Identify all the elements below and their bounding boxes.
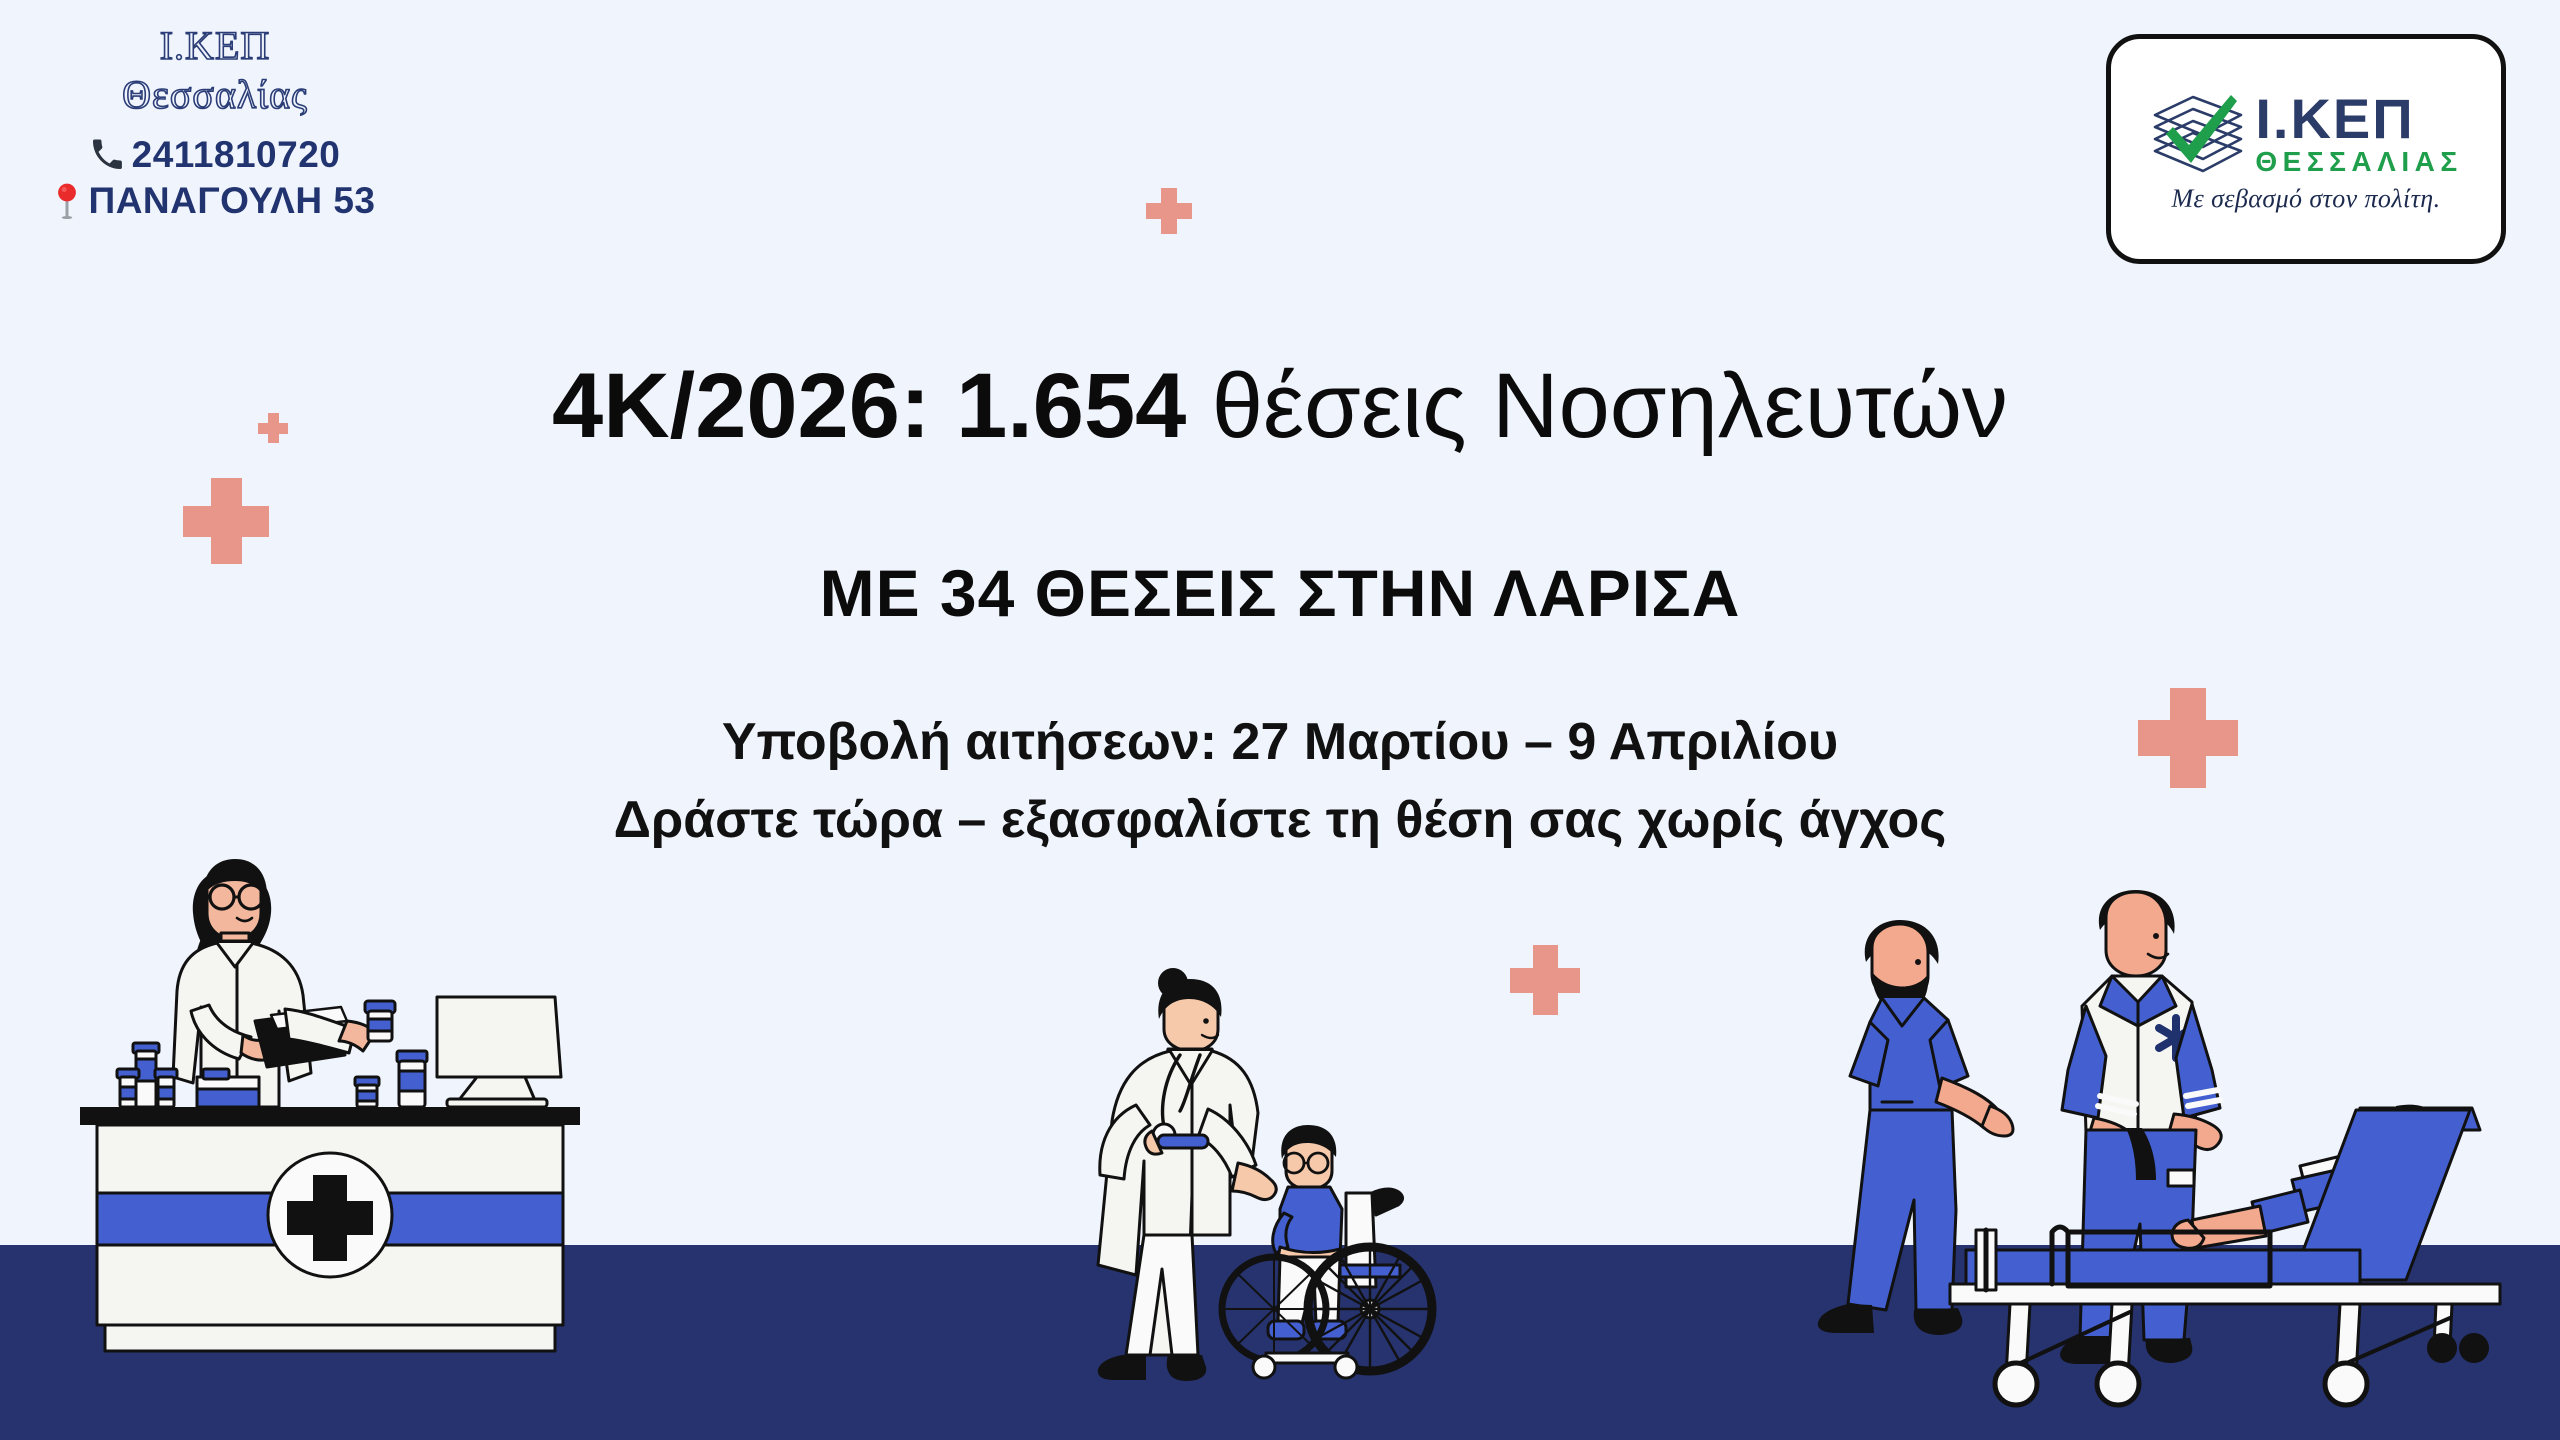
ikep-logo[interactable]: Ι.ΚΕΠ ΘΕΣΣΑΛΙΑΣ Με σεβασμό στον πολίτη.: [2106, 34, 2506, 264]
phone-number: 2411810720: [132, 134, 341, 176]
address-text: ΠΑΝΑΓΟΥΛΗ 53: [88, 180, 375, 222]
address-row[interactable]: ΠΑΝΑΓΟΥΛΗ 53: [0, 180, 430, 222]
cross-left-large: [183, 478, 269, 564]
headline-bold: 4Κ/2026: 1.654: [552, 355, 1186, 457]
org-name-line1: Ι.ΚΕΠ: [0, 22, 430, 71]
logo-name: Ι.ΚΕΠ: [2255, 92, 2414, 145]
logo-wordmark: Ι.ΚΕΠ ΘΕΣΣΑΛΙΑΣ: [2255, 92, 2462, 178]
phone-row[interactable]: 2411810720: [0, 134, 430, 176]
org-name-line2: Θεσσαλίας: [0, 71, 430, 120]
logo-top-row: Ι.ΚΕΠ ΘΕΣΣΑΛΙΑΣ: [2149, 89, 2462, 181]
check-on-documents-icon: [2149, 89, 2249, 181]
doctor-and-child-in-wheelchair-scene: [1040, 935, 1460, 1415]
page-title: 4Κ/2026: 1.654 θέσεις Νοσηλευτών: [0, 358, 2560, 455]
cross-mid-bottom: [1510, 945, 1580, 1015]
paramedics-with-stretcher-scene: [1800, 880, 2540, 1410]
contact-block: Ι.ΚΕΠ Θεσσαλίας 2411810720 ΠΑΝΑΓΟΥΛΗ 53: [0, 22, 430, 222]
pharmacy-counter-scene: [55, 815, 625, 1410]
logo-region: ΘΕΣΣΑΛΙΑΣ: [2255, 147, 2462, 178]
application-period-text: Υποβολή αιτήσεων: 27 Μαρτίου – 9 Απριλίο…: [0, 712, 2560, 772]
headline-regular: θέσεις Νοσηλευτών: [1186, 355, 2008, 457]
poster-canvas: Ι.ΚΕΠ Θεσσαλίας 2411810720 ΠΑΝΑΓΟΥΛΗ 53: [0, 0, 2560, 1440]
phone-icon: [90, 138, 124, 172]
page-subtitle: ΜΕ 34 ΘΕΣΕΙΣ ΣΤΗΝ ΛΑΡΙΣΑ: [0, 555, 2560, 631]
cross-top-center: [1146, 188, 1192, 234]
location-pin-icon: [54, 183, 80, 219]
logo-slogan: Με σεβασμό στον πολίτη.: [2171, 184, 2440, 214]
